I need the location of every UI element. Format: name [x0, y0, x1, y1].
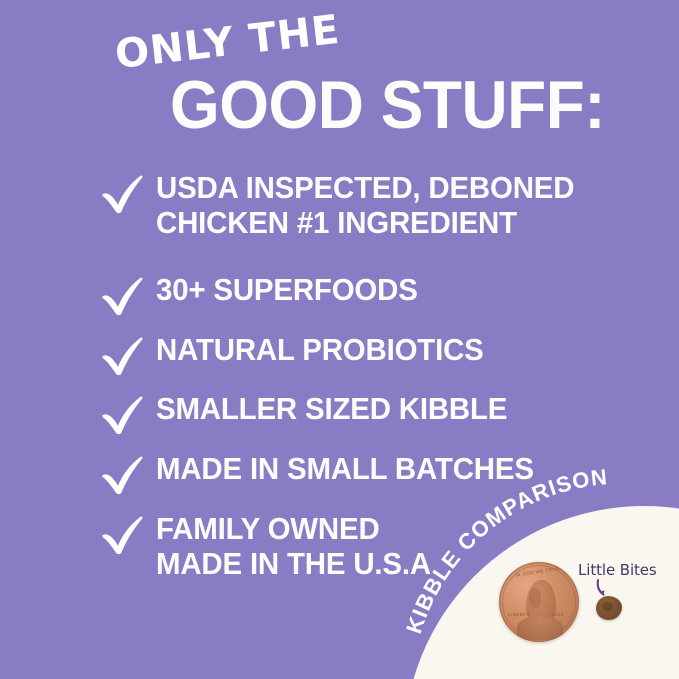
- list-item: FAMILY OWNED MADE IN THE U.S.A: [100, 511, 445, 581]
- list-item-label: USDA INSPECTED, DEBONED CHICKEN #1 INGRE…: [156, 170, 574, 240]
- list-item: MADE IN SMALL BATCHES: [100, 451, 554, 495]
- list-item-label: MADE IN SMALL BATCHES: [156, 451, 534, 486]
- headline-block: ONLY THE GOOD STUFF:: [0, 0, 679, 155]
- list-item-label: NATURAL PROBIOTICS: [156, 332, 484, 367]
- list-item-label: SMALLER SIZED KIBBLE: [156, 391, 507, 426]
- product-benefits-poster: ONLY THE GOOD STUFF: USDA INSPECTED, DEB…: [0, 0, 679, 679]
- list-item: SMALLER SIZED KIBBLE: [100, 391, 526, 435]
- check-icon: [100, 453, 146, 495]
- coin-liberty: LIBERTY: [508, 612, 530, 617]
- headline-line-2: GOOD STUFF:: [170, 71, 605, 139]
- check-icon: [100, 172, 146, 214]
- list-item: USDA INSPECTED, DEBONED CHICKEN #1 INGRE…: [100, 170, 596, 240]
- list-item: 30+ SUPERFOODS: [100, 272, 431, 316]
- kibble-label: Little Bites: [578, 561, 657, 579]
- check-icon: [100, 393, 146, 435]
- check-icon: [100, 334, 146, 376]
- us-penny-coin: IN GOD WE TRUST LIBERTY 2022: [499, 562, 579, 642]
- check-icon: [100, 513, 146, 555]
- check-icon: [100, 274, 146, 316]
- list-item: NATURAL PROBIOTICS: [100, 332, 501, 376]
- list-item-label: FAMILY OWNED MADE IN THE U.S.A: [156, 511, 431, 581]
- coin-year: 2022: [552, 612, 564, 617]
- list-item-label: 30+ SUPERFOODS: [156, 272, 418, 307]
- coin-shoulder: [517, 616, 563, 640]
